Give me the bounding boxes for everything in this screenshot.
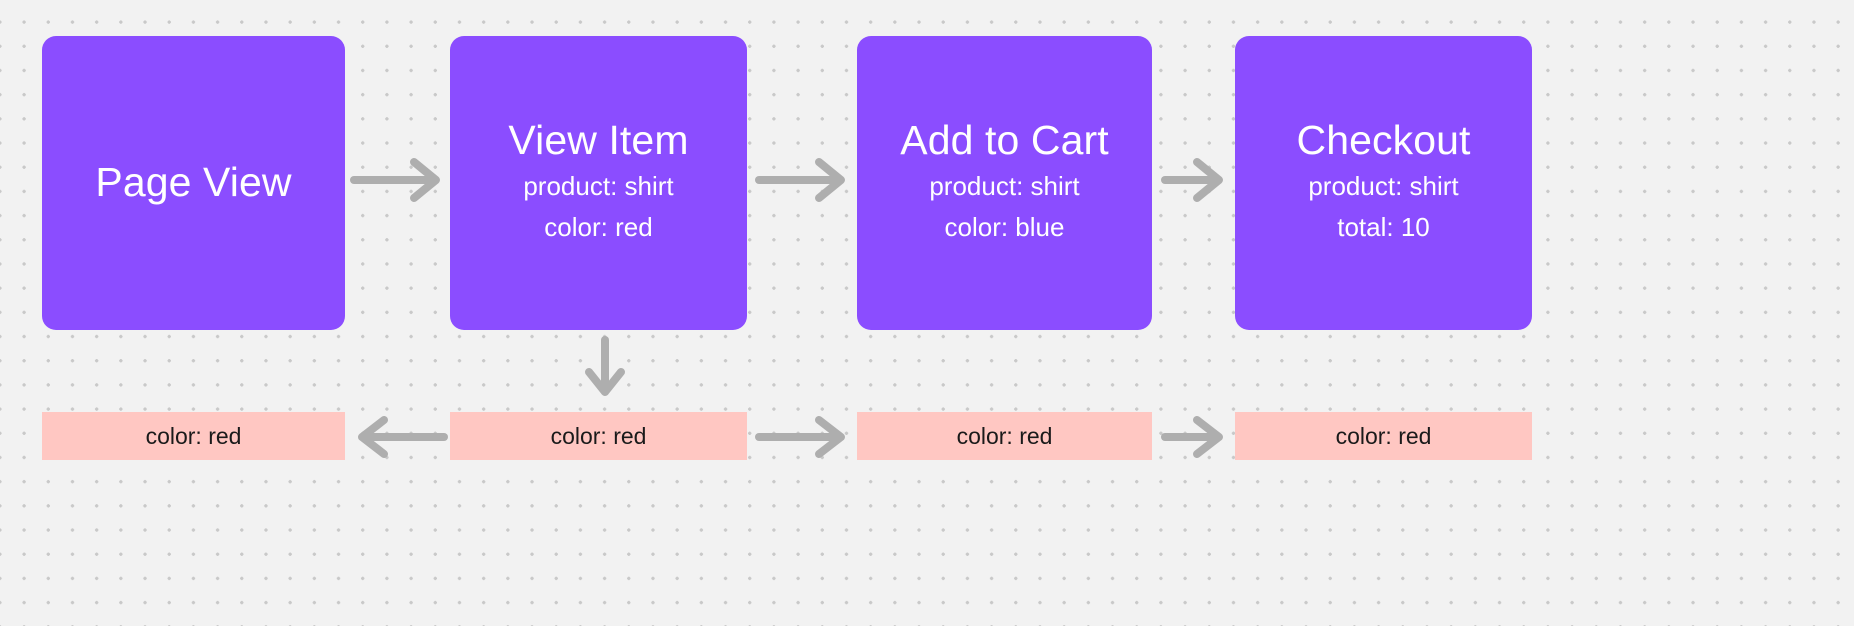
event-property: product: shirt xyxy=(523,166,673,207)
arrow-left-icon xyxy=(352,418,446,456)
diagram-canvas: Page View View Item product: shirt color… xyxy=(0,0,1854,626)
event-node-properties: product: shirt total: 10 xyxy=(1308,166,1458,247)
event-node-title: View Item xyxy=(508,119,688,162)
event-property: product: shirt xyxy=(1308,166,1458,207)
event-property: color: red xyxy=(523,207,673,248)
event-node-properties: product: shirt color: blue xyxy=(929,166,1079,247)
event-property: color: blue xyxy=(929,207,1079,248)
property-box[interactable]: color: red xyxy=(42,412,345,460)
property-box-label: color: red xyxy=(1336,425,1432,448)
event-node-view-item[interactable]: View Item product: shirt color: red xyxy=(450,36,747,330)
event-node-title: Page View xyxy=(95,161,291,204)
property-box-label: color: red xyxy=(957,425,1053,448)
arrow-right-icon xyxy=(757,158,851,202)
event-node-page-view[interactable]: Page View xyxy=(42,36,345,330)
event-node-add-to-cart[interactable]: Add to Cart product: shirt color: blue xyxy=(857,36,1152,330)
event-property: product: shirt xyxy=(929,166,1079,207)
arrow-right-icon xyxy=(757,418,851,456)
property-box[interactable]: color: red xyxy=(1235,412,1532,460)
arrow-down-icon xyxy=(583,338,627,400)
event-node-title: Add to Cart xyxy=(900,119,1108,162)
event-property: total: 10 xyxy=(1308,207,1458,248)
property-box[interactable]: color: red xyxy=(450,412,747,460)
property-box[interactable]: color: red xyxy=(857,412,1152,460)
event-node-title: Checkout xyxy=(1296,119,1470,162)
arrow-right-icon xyxy=(1163,418,1229,456)
arrow-right-icon xyxy=(1163,158,1229,202)
event-node-properties: product: shirt color: red xyxy=(523,166,673,247)
property-box-label: color: red xyxy=(551,425,647,448)
arrow-right-icon xyxy=(352,158,446,202)
event-node-checkout[interactable]: Checkout product: shirt total: 10 xyxy=(1235,36,1532,330)
property-box-label: color: red xyxy=(146,425,242,448)
